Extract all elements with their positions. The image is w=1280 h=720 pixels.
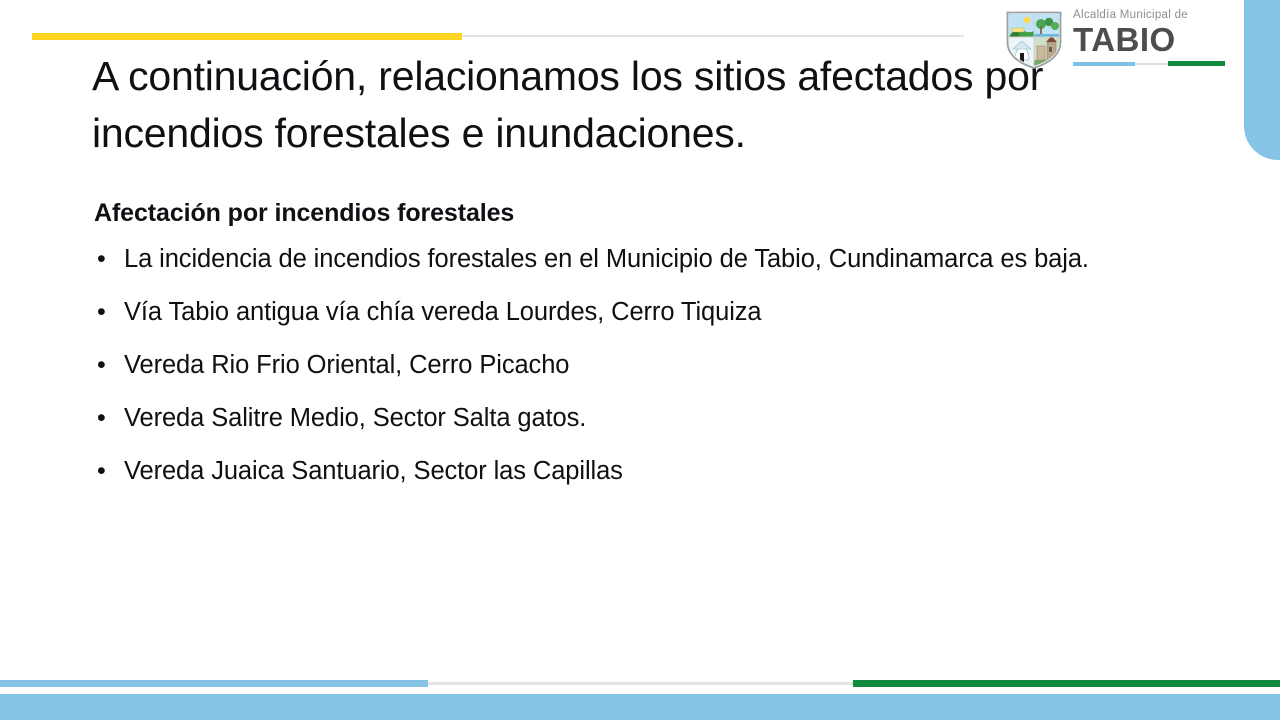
list-item-text: Vereda Juaica Santuario, Sector las Capi… [124,457,623,485]
bottom-decor-rule [0,680,1280,687]
bottom-blue-band [0,694,1280,720]
bullet-dot-icon: • [97,455,106,488]
coat-of-arms-shield-icon [1003,8,1065,70]
slide-title: A continuación, relacionamos los sitios … [92,48,1162,162]
logo-name: TABIO [1073,23,1221,57]
list-item: • Vereda Salitre Medio, Sector Salta gat… [94,402,1154,435]
list-item: • Vía Tabio antigua vía chía vereda Lour… [94,296,1154,329]
bottom-rule-green-segment [853,680,1280,687]
top-rule-yellow-segment [32,33,462,40]
section-subheading: Afectación por incendios forestales [94,196,1154,230]
list-item-text: Vereda Rio Frio Oriental, Cerro Picacho [124,351,569,379]
logo-tagline: Alcaldía Municipal de [1073,8,1221,22]
bottom-rule-blue-segment [0,680,428,687]
logo-underline-rule [1073,61,1225,66]
bullet-list: • La incidencia de incendios forestales … [94,243,1154,488]
bullet-dot-icon: • [97,296,106,329]
list-item-text: Vía Tabio antigua vía chía vereda Lourde… [124,298,762,326]
municipality-logo: Alcaldía Municipal de TABIO [1003,6,1221,72]
list-item: • La incidencia de incendios forestales … [94,243,1154,276]
logo-underline-gray-segment [1135,63,1168,65]
bullet-dot-icon: • [97,402,106,435]
bullet-dot-icon: • [97,243,106,276]
list-item: • Vereda Rio Frio Oriental, Cerro Picach… [94,349,1154,382]
list-item-text: La incidencia de incendios forestales en… [124,245,1089,273]
logo-underline-green-segment [1168,61,1225,66]
bullet-dot-icon: • [97,349,106,382]
top-decor-rule [32,33,964,40]
logo-underline-blue-segment [1073,62,1135,66]
logo-text-block: Alcaldía Municipal de TABIO [1073,8,1221,57]
list-item: • Vereda Juaica Santuario, Sector las Ca… [94,455,1154,488]
slide-body: Afectación por incendios forestales • La… [94,196,1154,488]
right-blue-accent-panel [1244,0,1280,160]
list-item-text: Vereda Salitre Medio, Sector Salta gatos… [124,404,586,432]
